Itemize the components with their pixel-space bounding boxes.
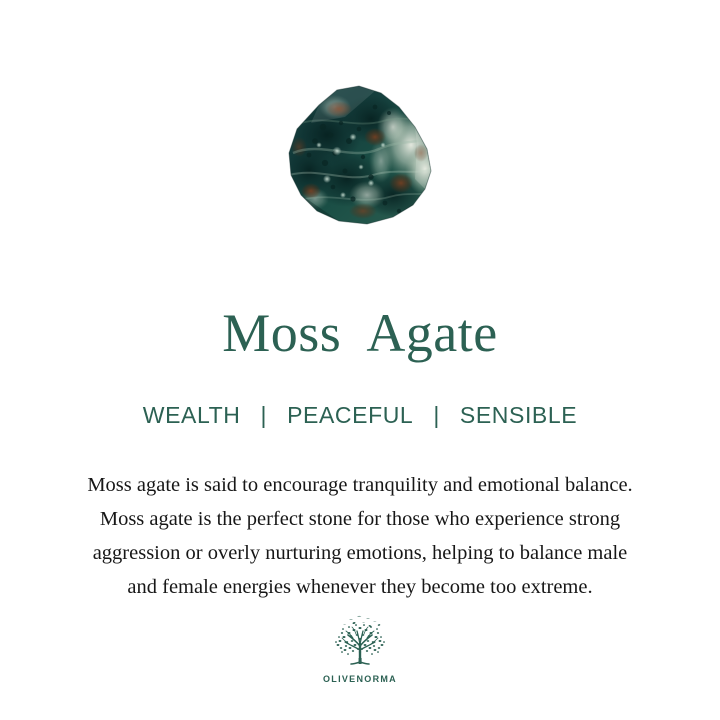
description-line-3: aggression or overly nurturing emotions,… — [30, 536, 690, 570]
description-line-2: Moss agate is the perfect stone for thos… — [30, 502, 690, 536]
keyword-separator-2: | — [433, 400, 440, 430]
keyword-wealth: WEALTH — [143, 400, 241, 430]
raw-moss-agate-stone-icon — [275, 83, 445, 238]
keyword-peaceful: PEACEFUL — [287, 400, 413, 430]
page-title: Moss Agate — [0, 303, 720, 363]
brand-footer: OLIVENORMA — [0, 614, 720, 684]
description-line-1: Moss agate is said to encourage tranquil… — [30, 468, 690, 502]
keyword-sensible: SENSIBLE — [460, 400, 577, 430]
product-info-card: Moss Agate WEALTH | PEACEFUL | SENSIBLE … — [0, 0, 720, 720]
product-image-container — [0, 78, 720, 243]
olive-tree-logo-icon — [329, 614, 391, 672]
brand-name: OLIVENORMA — [323, 674, 397, 684]
description-line-4: and female energies whenever they become… — [30, 570, 690, 604]
keyword-list: WEALTH | PEACEFUL | SENSIBLE — [0, 400, 720, 430]
keyword-separator-1: | — [261, 400, 268, 430]
product-description: Moss agate is said to encourage tranquil… — [30, 468, 690, 604]
